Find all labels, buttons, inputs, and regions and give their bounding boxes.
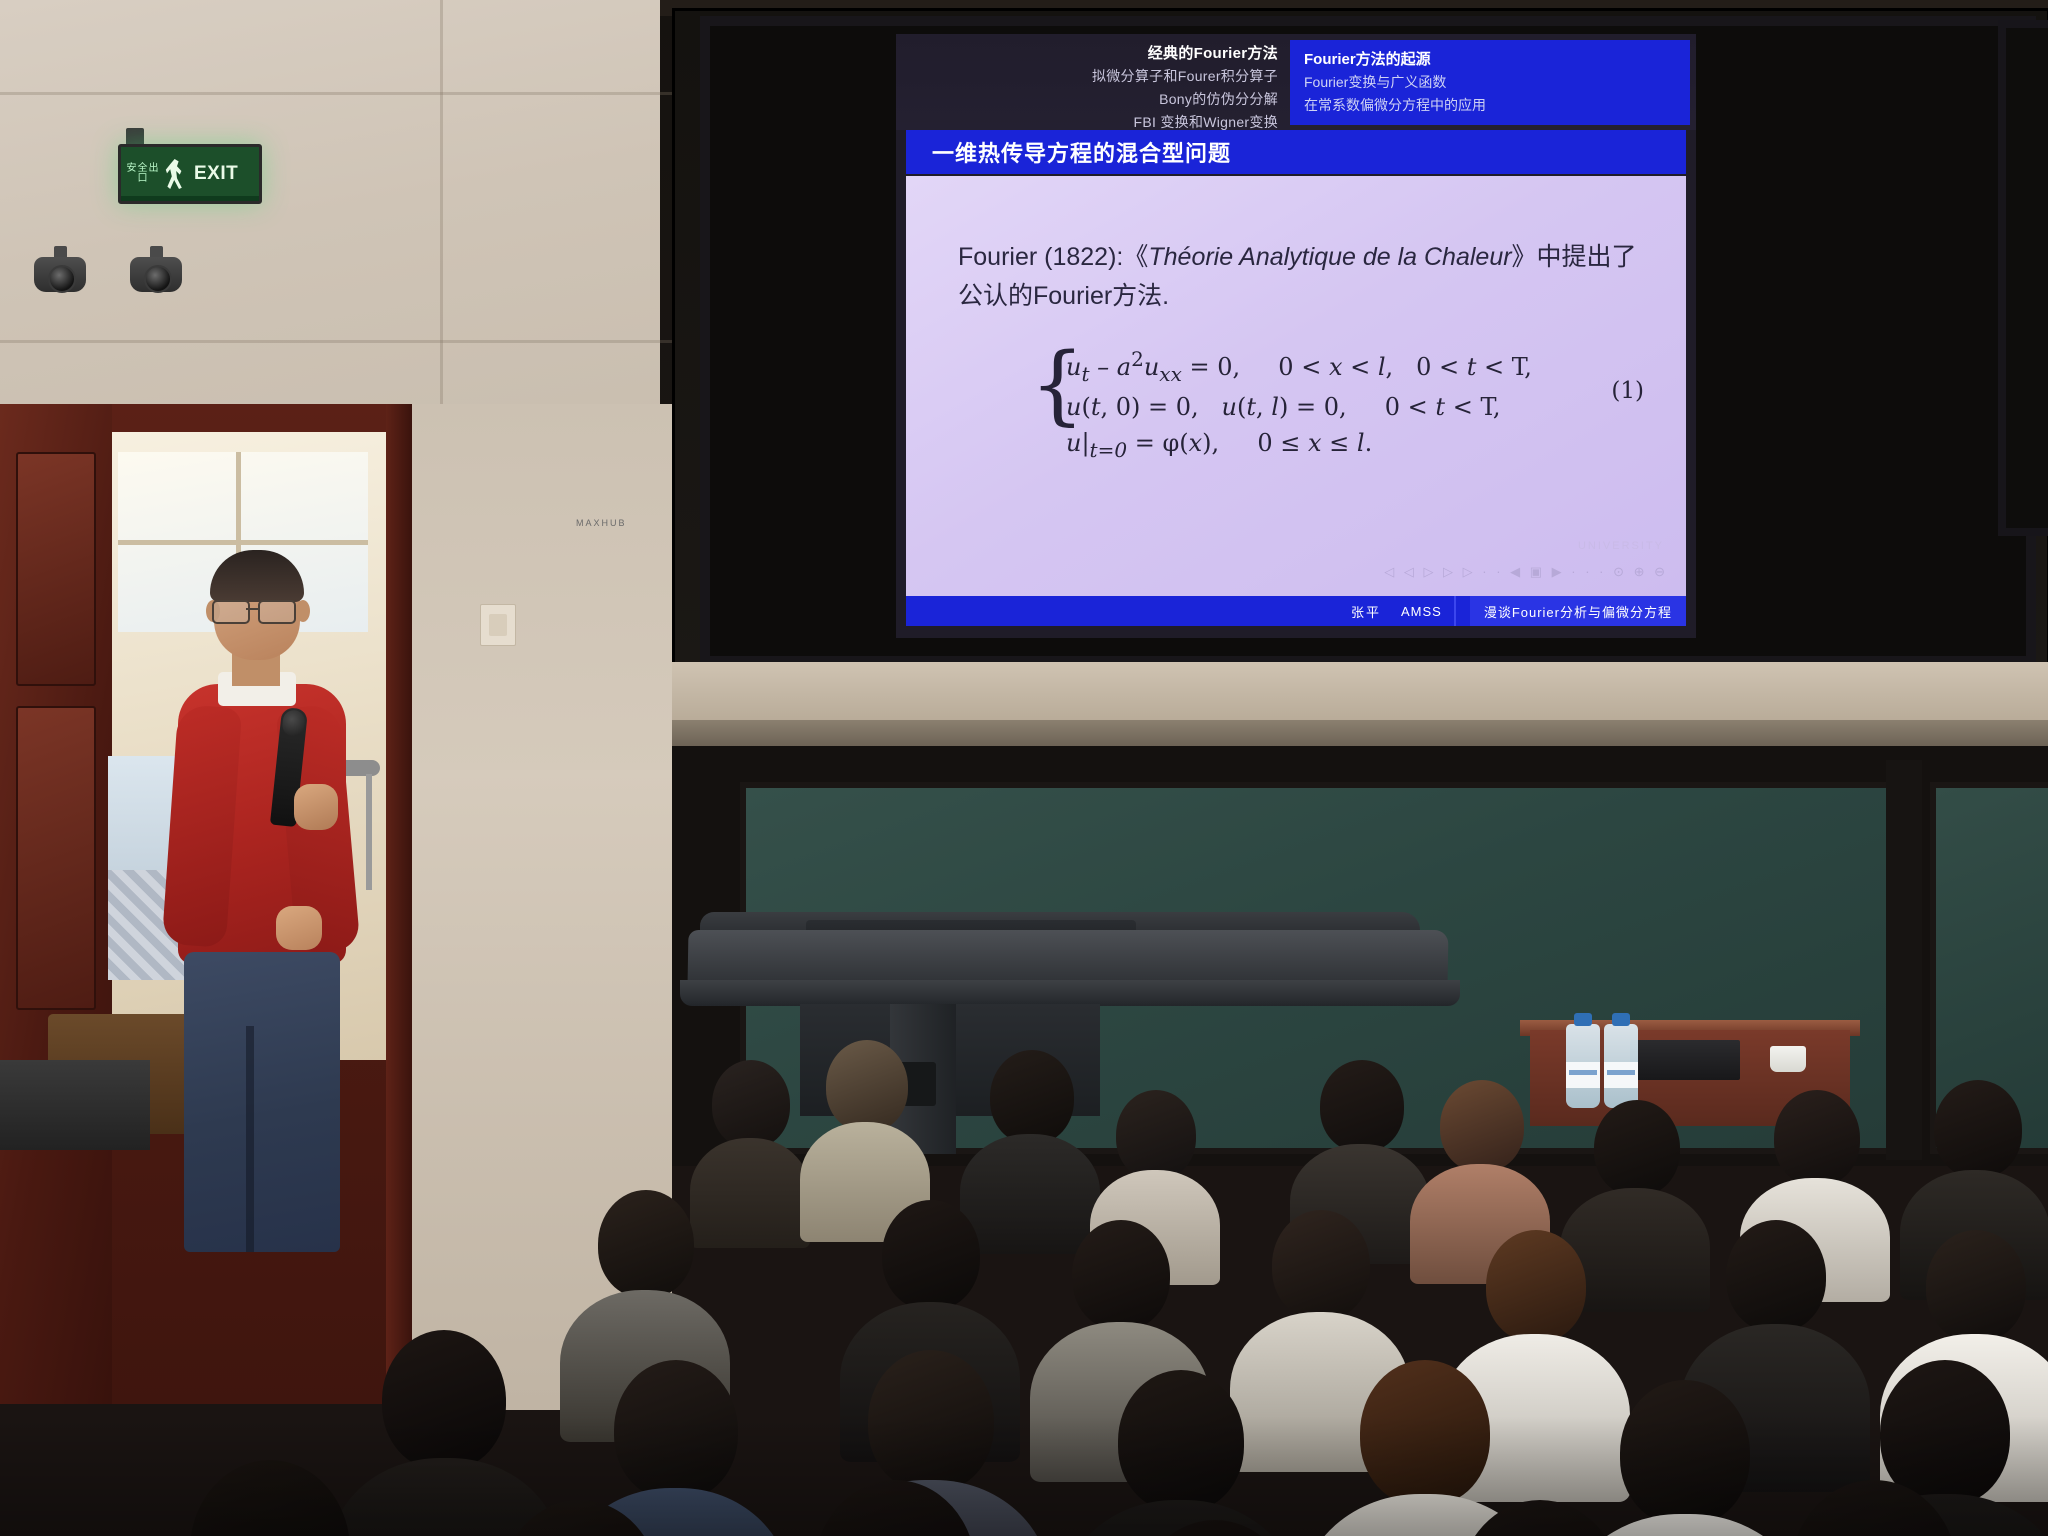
equation-line-2: u(t, 0) = 0, u(t, l) = 0, 0 < t < T, <box>1066 389 1650 425</box>
audience-head <box>1486 1230 1586 1342</box>
audience-head <box>598 1190 694 1298</box>
display-brand-label: MAXHUB <box>576 518 627 528</box>
footer-divider <box>1454 596 1456 626</box>
slide-header-left: 经典的Fourier方法 拟微分算子和Fourer积分算子 Bony的仿伪分分解… <box>1092 42 1278 132</box>
audience-head <box>1440 1080 1524 1172</box>
ptz-camera-left <box>34 246 86 292</box>
audience-head <box>1774 1090 1860 1186</box>
eyeglasses-icon <box>212 600 304 620</box>
audience-head <box>826 1040 908 1132</box>
screen-ledge <box>672 662 2048 720</box>
header-right-line1: Fourier变换与广义函数 <box>1304 72 1678 92</box>
wall-mid-panel <box>412 404 672 774</box>
window-mullion-h <box>118 540 368 545</box>
audience-head <box>1934 1080 2022 1178</box>
audience-head <box>1926 1230 2026 1342</box>
camera-lens-icon <box>48 265 76 293</box>
book-title-italic: Théorie Analytique de la Chaleur <box>1148 243 1511 271</box>
secondary-display <box>1998 20 2048 536</box>
header-right-line2: 在常系数偏微分方程中的应用 <box>1304 95 1678 115</box>
audience-head <box>1072 1220 1170 1330</box>
screen-ledge-shadow <box>672 720 2048 746</box>
lens-right <box>258 600 296 624</box>
footer-presenter: 张平 <box>1351 602 1381 621</box>
footer-talk-title-wrap: 漫谈Fourier分析与偏微分方程 <box>1470 596 1686 626</box>
audience-head <box>1726 1220 1826 1332</box>
foreground-shadow <box>0 1416 2048 1536</box>
audience-head <box>1116 1090 1196 1180</box>
lecture-hall-photo: 安全出口 EXIT MAXHUB <box>0 0 2048 1536</box>
audience-head <box>1272 1210 1370 1320</box>
equation-number: (1) <box>1611 378 1644 404</box>
header-left-line2: Bony的仿伪分分解 <box>1092 89 1278 109</box>
paragraph-pre: Fourier (1822):《 <box>958 243 1148 271</box>
equation-lines: ut – a2uxx = 0, 0 < x < l, 0 < t < T, u(… <box>1066 344 1650 465</box>
presentation-slide: 经典的Fourier方法 拟微分算子和Fourer积分算子 Bony的仿伪分分解… <box>896 34 1696 638</box>
presenter-hair <box>210 550 304 602</box>
slide-section-title: 一维热传导方程的混合型问题 <box>906 130 1686 174</box>
slide-footer: 张平 AMSS 漫谈Fourier分析与偏微分方程 <box>906 596 1686 626</box>
running-man-icon <box>160 154 190 194</box>
light-switch[interactable] <box>480 604 516 646</box>
exit-sign-label-en: EXIT <box>194 163 238 185</box>
slide-paragraph: Fourier (1822):《Théorie Analytique de la… <box>958 238 1648 316</box>
door-panel-upper <box>16 452 96 686</box>
equation-line-1: ut – a2uxx = 0, 0 < x < l, 0 < t < T, <box>1066 344 1650 389</box>
header-left-line1: 拟微分算子和Fourer积分算子 <box>1092 66 1278 86</box>
audience-head <box>712 1060 790 1148</box>
header-left-line3: FBI 变换和Wigner变换 <box>1092 112 1278 132</box>
equation-block: { ut – a2uxx = 0, 0 < x < l, 0 < t < T, … <box>1030 344 1650 465</box>
slide-header: 经典的Fourier方法 拟微分算子和Fourer积分算子 Bony的仿伪分分解… <box>896 34 1696 130</box>
lens-left <box>212 600 250 624</box>
exit-sign-label-cn: 安全出口 <box>126 164 160 185</box>
glasses-bridge <box>246 608 258 610</box>
audience-head <box>1320 1060 1404 1152</box>
footer-talk-title: 漫谈Fourier分析与偏微分方程 <box>1484 602 1672 621</box>
audience-head <box>990 1050 1074 1144</box>
audience-head <box>882 1200 980 1310</box>
footer-affiliation: AMSS <box>1401 604 1442 619</box>
slide-watermark: UNIVERSITY <box>1578 540 1664 552</box>
slide-content-area: Fourier (1822):《Théorie Analytique de la… <box>906 176 1686 596</box>
header-right-title: Fourier方法的起源 <box>1304 48 1678 69</box>
slide-header-right: Fourier方法的起源 Fourier变换与广义函数 在常系数偏微分方程中的应… <box>1290 40 1690 125</box>
paragraph-line2: 公认的Fourier方法. <box>958 282 1169 310</box>
wall-seam-2 <box>0 340 700 343</box>
audience-head <box>1594 1100 1680 1196</box>
header-left-title: 经典的Fourier方法 <box>1092 42 1278 63</box>
wall-seam-1 <box>0 92 700 95</box>
audience <box>0 760 2048 1536</box>
beamer-nav-icons[interactable]: ◁ ◁ ▷ ▷ ▷ · · ◀ ▣ ▶ · · · ⊙ ⊕ ⊖ <box>1384 564 1668 580</box>
equation-brace: { <box>1030 346 1085 425</box>
equation-line-3: u|t=0 = φ(x), 0 ≤ x ≤ l. <box>1066 425 1650 465</box>
slide-section-title-text: 一维热传导方程的混合型问题 <box>932 136 1231 168</box>
ptz-camera-right <box>130 246 182 292</box>
exit-sign-base <box>121 196 259 201</box>
paragraph-post: 》中提出了 <box>1512 243 1637 271</box>
exit-sign: 安全出口 EXIT <box>118 144 262 204</box>
camera-lens-icon <box>144 265 172 293</box>
